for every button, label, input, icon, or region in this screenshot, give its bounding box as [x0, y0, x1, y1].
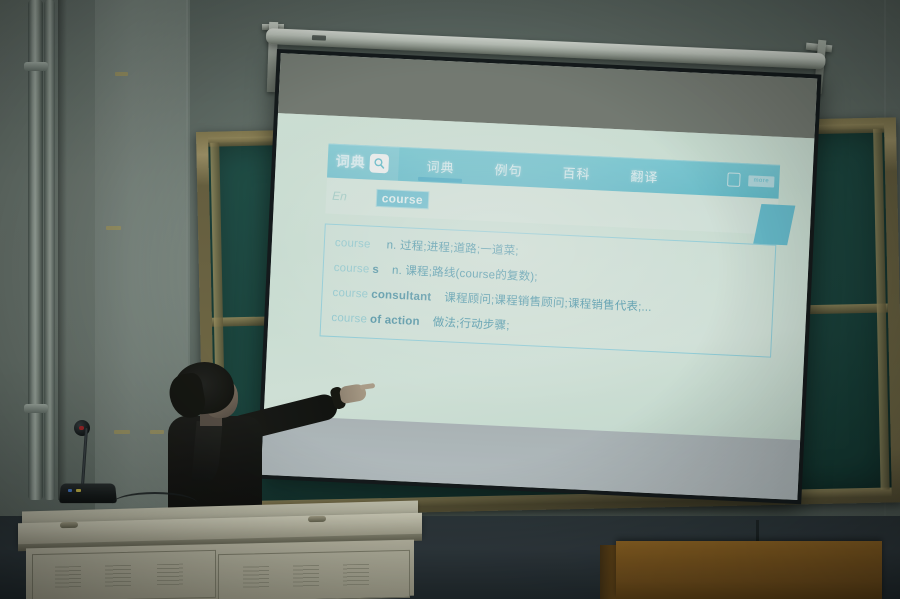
result-term: course	[335, 237, 371, 251]
app-logo[interactable]: 词典	[327, 144, 400, 181]
vent-louvre	[157, 564, 183, 587]
result-term-suffix: consultant	[371, 289, 432, 304]
wall-tape-mark	[106, 226, 121, 230]
wall-pipe-primary	[28, 0, 43, 500]
presenter-pointing-finger	[360, 383, 376, 390]
app-toolbar-right: more	[727, 172, 780, 188]
wall-tape-mark	[115, 72, 128, 76]
result-term: course	[333, 262, 369, 276]
results-panel: course n. 过程;进程;道路;一道菜; course s n. 课程;路…	[320, 223, 777, 357]
pipe-band	[24, 404, 48, 413]
dictionary-app: 词典 词典 例句 百科 翻译	[320, 144, 781, 358]
result-term: course	[331, 312, 367, 326]
pipe-shadow	[58, 0, 67, 500]
tab-dictionary[interactable]: 词典	[424, 148, 458, 183]
wall-pipe-secondary	[44, 0, 55, 500]
vent-louvre	[243, 566, 269, 589]
vent-louvre	[55, 566, 81, 589]
vent-louvre	[293, 565, 319, 588]
result-term-suffix: s	[372, 264, 379, 276]
podium-latch[interactable]	[308, 516, 326, 522]
pipe-band	[24, 62, 48, 71]
wooden-desk	[616, 541, 882, 599]
podium-cabinet-door-right[interactable]	[218, 550, 410, 599]
tab-encyclopedia[interactable]: 百科	[560, 155, 594, 190]
search-input[interactable]: course	[376, 190, 428, 208]
result-definition: 课程顾问;课程销售顾问;课程销售代表;...	[444, 289, 652, 315]
microphone-led-yellow	[76, 489, 81, 492]
more-button[interactable]: more	[748, 175, 774, 187]
result-definition: n. 过程;进程;道路;一道菜;	[386, 236, 519, 258]
podium-cabinet-door-left[interactable]	[32, 550, 216, 599]
magnifier-icon[interactable]	[369, 153, 389, 173]
wall-tape-mark	[114, 430, 130, 434]
language-tag[interactable]: En	[332, 189, 347, 204]
microphone-indicator	[79, 426, 84, 430]
podium-latch[interactable]	[60, 522, 78, 528]
tab-translate[interactable]: 翻译	[628, 158, 662, 193]
window-square-icon[interactable]	[727, 172, 741, 187]
result-term-suffix	[373, 239, 374, 251]
result-definition: 做法;行动步骤;	[432, 314, 510, 334]
app-logo-label: 词典	[335, 151, 366, 172]
vent-louvre	[105, 565, 131, 588]
classroom-scene: 词典 词典 例句 百科 翻译	[0, 0, 900, 599]
result-definition: n. 课程;路线(course的复数);	[392, 262, 538, 285]
result-term-suffix: of action	[370, 314, 420, 328]
microphone-led-blue	[68, 489, 72, 492]
roller-badge	[312, 35, 326, 41]
more-button-label: more	[753, 178, 769, 185]
vent-louvre	[343, 564, 369, 587]
tab-example-sentences[interactable]: 例句	[492, 151, 526, 186]
result-term: course	[332, 287, 368, 301]
lectern-podium	[18, 498, 422, 599]
